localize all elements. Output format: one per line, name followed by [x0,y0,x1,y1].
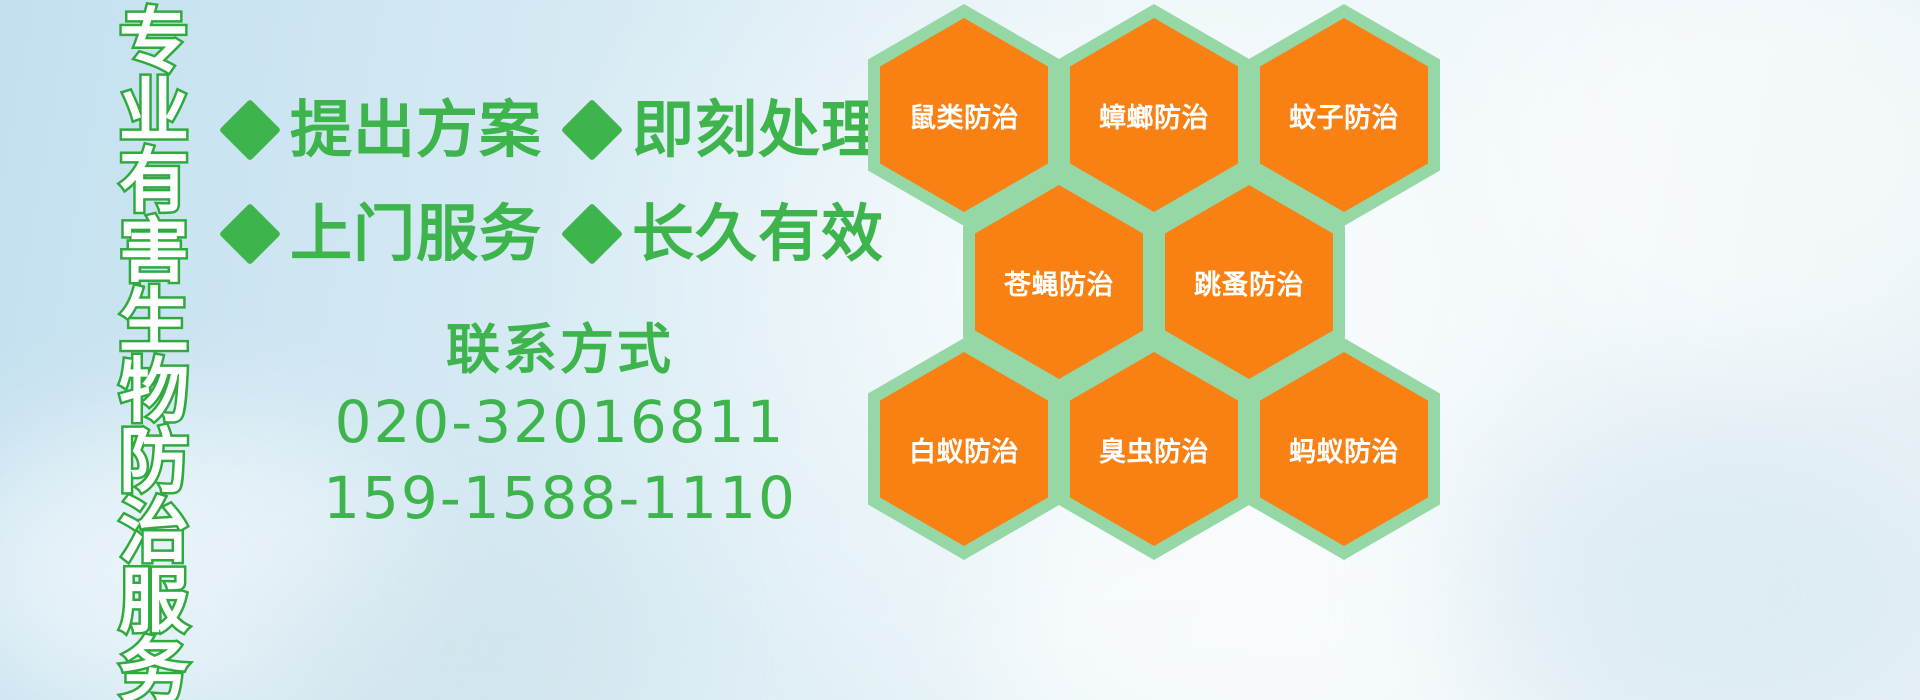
hex-label: 跳蚤防治 [1194,263,1304,302]
headline-char: 服 [119,566,189,636]
headline-char: 物 [119,356,189,426]
feature-row: 上门服务 长久有效 [228,182,868,286]
pest-control-banner: 专 业 有 害 生 物 防 治 服 务 提出方案 即刻处理 上门服务 [0,0,1920,700]
hex-label: 臭虫防治 [1099,430,1209,469]
headline-char: 专 [119,6,189,76]
phone-mobile[interactable]: 159-1588-1110 [260,460,860,536]
feature-item-propose-plan: 提出方案 [228,99,542,161]
hex-inner: 鼠类防治 [880,18,1048,212]
hex-inner: 臭虫防治 [1070,352,1238,546]
feature-label: 即刻处理 [632,99,884,161]
headline-char: 务 [119,636,189,700]
background-haze-blob [1500,0,1920,360]
hex-label: 苍蝇防治 [1004,263,1114,302]
feature-label: 提出方案 [290,99,542,161]
hex-inner: 苍蝇防治 [975,185,1143,379]
service-honeycomb: 鼠类防治 蟑螂防治 蚊子防治 苍蝇防治 跳蚤防治 白蚁防治 [862,0,1462,576]
hex-label: 蟑螂防治 [1099,96,1209,135]
diamond-bullet-icon [219,99,281,161]
hex-inner: 蚂蚁防治 [1260,352,1428,546]
hex-label: 鼠类防治 [909,96,1019,135]
hex-inner: 跳蚤防治 [1165,185,1333,379]
feature-list: 提出方案 即刻处理 上门服务 长久有效 [228,78,868,286]
phone-landline[interactable]: 020-32016811 [260,384,860,460]
headline-char: 有 [119,146,189,216]
diamond-bullet-icon [561,99,623,161]
hex-label: 白蚁防治 [909,430,1019,469]
hex-label: 蚂蚁防治 [1289,430,1399,469]
diamond-bullet-icon [561,203,623,265]
contact-block: 联系方式 020-32016811 159-1588-1110 [260,316,860,536]
diamond-bullet-icon [219,203,281,265]
headline-char: 业 [119,76,189,146]
vertical-headline: 专 业 有 害 生 物 防 治 服 务 [102,6,206,574]
feature-item-onsite-service: 上门服务 [228,203,542,265]
feature-label: 上门服务 [290,203,542,265]
hex-inner: 蟑螂防治 [1070,18,1238,212]
feature-row: 提出方案 即刻处理 [228,78,868,182]
background-haze-blob [1450,420,1920,700]
headline-char: 防 [119,426,189,496]
background-haze-blob [250,520,670,700]
headline-char: 害 [119,216,189,286]
feature-item-immediate-handling: 即刻处理 [570,99,884,161]
hex-label: 蚊子防治 [1289,96,1399,135]
headline-char: 生 [119,286,189,356]
contact-title: 联系方式 [260,316,860,384]
hex-inner: 蚊子防治 [1260,18,1428,212]
feature-label: 长久有效 [632,203,884,265]
headline-char: 治 [119,496,189,566]
hex-inner: 白蚁防治 [880,352,1048,546]
feature-item-long-lasting: 长久有效 [570,203,884,265]
